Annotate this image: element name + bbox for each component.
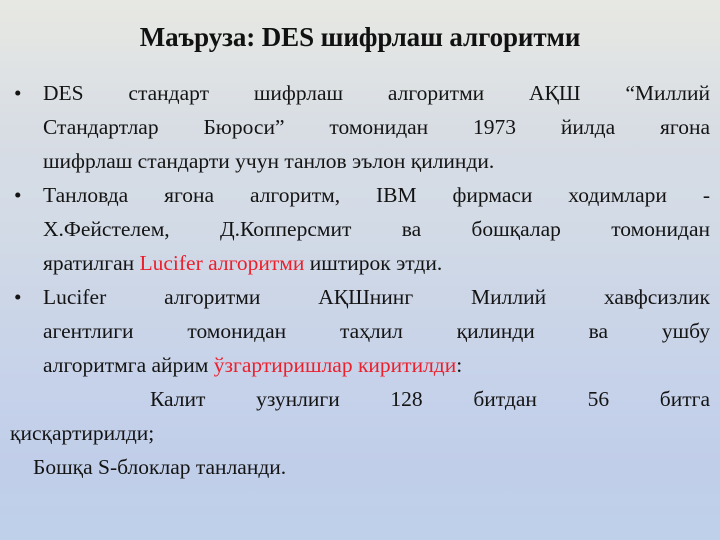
bullet-2-line-2: Х.Фейстелем, Д.Копперсмит ва бошқалар то… [43,212,710,246]
bullet-item-2: • Танловда ягона алгоритм, IBM фирмаси х… [10,178,710,280]
bullet-2-line-3-prefix: яратилган [43,251,140,275]
bullet-3-line-3-prefix: алгоритмга айрим [43,353,214,377]
bullet-2-line-3: яратилган Lucifer алгоритми иштирок этди… [43,246,710,280]
bullet-1-line-3: шифрлаш стандарти учун танлов эълон қили… [43,144,710,178]
bullet-item-3: • Lucifer алгоритми АҚШнинг Миллий хавфс… [10,280,710,382]
slide-body: • DES стандарт шифрлаш алгоритми АҚШ “Ми… [10,76,710,484]
bullet-1-line-1: DES стандарт шифрлаш алгоритми АҚШ “Милл… [43,76,710,110]
trailing-1-line-2: қисқартирилди; [10,416,710,450]
bullet-item-1: • DES стандарт шифрлаш алгоритми АҚШ “Ми… [10,76,710,178]
bullet-2-line-1: Танловда ягона алгоритм, IBM фирмаси ход… [43,178,710,212]
trailing-1-line-1: Калит узунлиги 128 битдан 56 битга [10,382,710,416]
bullet-icon: • [14,76,34,110]
trailing-paragraph-2: Бошқа S-блоклар танланди. [10,450,710,484]
presentation-slide: Маъруза: DES шифрлаш алгоритми • DES ста… [0,0,720,540]
bullet-icon: • [14,280,34,314]
trailing-paragraph-1: Калит узунлиги 128 битдан 56 битга қисқа… [10,382,710,450]
bullet-2-line-3-suffix: иштирок этди. [304,251,442,275]
bullet-3-line-2: агентлиги томонидан таҳлил қилинди ва уш… [43,314,710,348]
bullet-3-line-3-suffix: : [456,353,462,377]
bullet-icon: • [14,178,34,212]
page-title: Маъруза: DES шифрлаш алгоритми [0,21,720,53]
bullet-3-line-3: алгоритмга айрим ўзгартиришлар киритилди… [43,348,710,382]
highlight-lucifer-algorithm: Lucifer алгоритми [140,251,305,275]
highlight-changes-applied: ўзгартиришлар киритилди [214,353,456,377]
bullet-3-line-1: Lucifer алгоритми АҚШнинг Миллий хавфсиз… [43,280,710,314]
bullet-1-line-2: Стандартлар Бюроси” томонидан 1973 йилда… [43,110,710,144]
trailing-2-line-1: Бошқа S-блоклар танланди. [10,450,710,484]
